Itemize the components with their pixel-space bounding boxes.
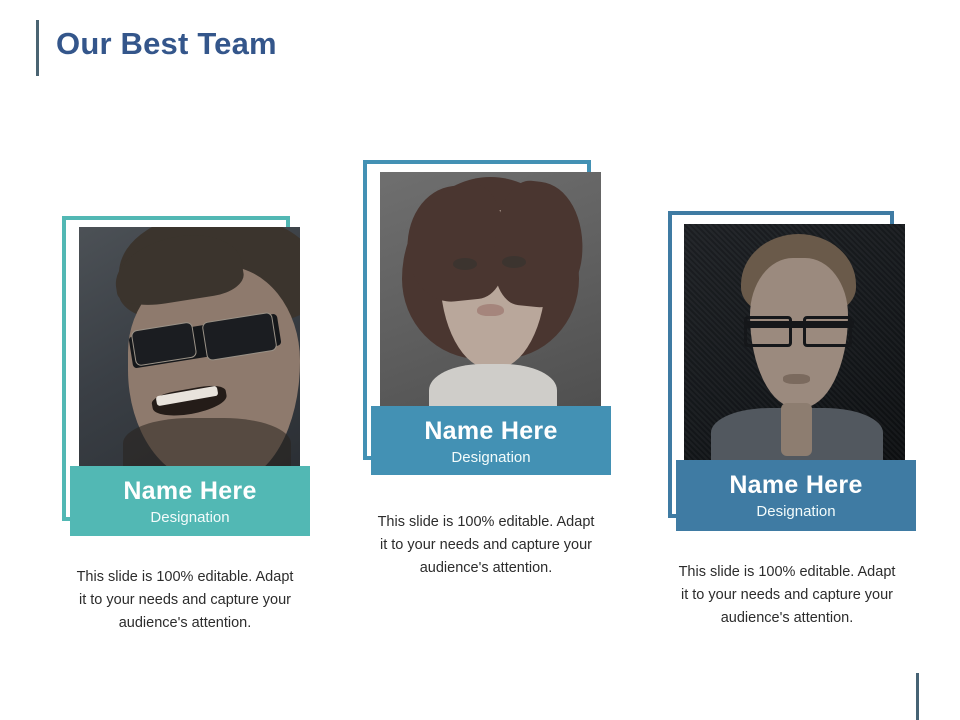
card-photo-3 <box>684 224 905 466</box>
team-card-3[interactable]: Name Here Designation <box>668 211 914 533</box>
page-title: Our Best Team <box>56 22 277 66</box>
card-band-3: Name Here Designation <box>676 460 916 531</box>
card-name-1: Name Here <box>70 476 310 506</box>
team-card-2[interactable]: Name Here Designation <box>363 160 609 475</box>
card-body-text-1: This slide is 100% editable. Adapt it to… <box>76 566 294 635</box>
photo-backdrop-3 <box>684 224 905 466</box>
card-role-1: Designation <box>70 507 310 529</box>
card-name-3: Name Here <box>676 470 916 500</box>
card-photo-2 <box>380 172 601 412</box>
card-band-2: Name Here Designation <box>371 406 611 475</box>
card-role-2: Designation <box>371 447 611 469</box>
card-body-text-2: This slide is 100% editable. Adapt it to… <box>377 511 595 580</box>
card-name-2: Name Here <box>371 416 611 446</box>
team-card-1[interactable]: Name Here Designation <box>62 216 308 536</box>
card-body-text-3: This slide is 100% editable. Adapt it to… <box>678 561 896 630</box>
card-photo-1 <box>79 227 300 472</box>
card-band-1: Name Here Designation <box>70 466 310 536</box>
photo-backdrop-2 <box>380 172 601 412</box>
bottom-accent-bar <box>916 673 919 720</box>
photo-backdrop-1 <box>79 227 300 472</box>
card-role-3: Designation <box>676 501 916 523</box>
title-accent-bar <box>36 20 39 76</box>
